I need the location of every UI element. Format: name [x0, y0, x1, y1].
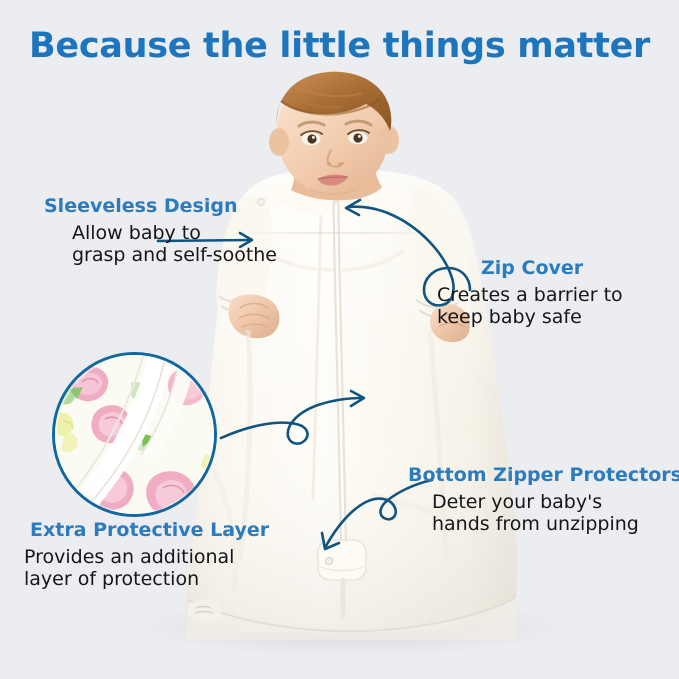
- bottom-zipper-protector-tab: [318, 540, 366, 580]
- brand-tag: [188, 600, 223, 623]
- infographic-canvas: Because the little things matter Sleevel…: [0, 0, 679, 679]
- callout-body: Provides an additional layer of protecti…: [24, 546, 269, 591]
- callout-sleeveless-design: Sleeveless Design Allow baby to grasp an…: [44, 196, 277, 267]
- page-title: Because the little things matter: [0, 26, 679, 66]
- callout-extra-protective-layer: Extra Protective Layer Provides an addit…: [24, 520, 269, 591]
- fabric-closeup-inset: [52, 352, 217, 517]
- callout-title: Extra Protective Layer: [30, 520, 269, 542]
- callout-bottom-zipper-protectors: Bottom Zipper Protectors Deter your baby…: [408, 465, 679, 536]
- callout-body: Creates a barrier to keep baby safe: [437, 284, 623, 329]
- callout-title: Bottom Zipper Protectors: [408, 465, 679, 487]
- callout-body: Deter your baby's hands from unzipping: [432, 491, 679, 536]
- callout-zip-cover: Zip Cover Creates a barrier to keep baby…: [437, 258, 623, 329]
- callout-body: Allow baby to grasp and self-soothe: [72, 222, 277, 267]
- callout-title: Sleeveless Design: [44, 196, 277, 218]
- callout-title: Zip Cover: [481, 258, 623, 280]
